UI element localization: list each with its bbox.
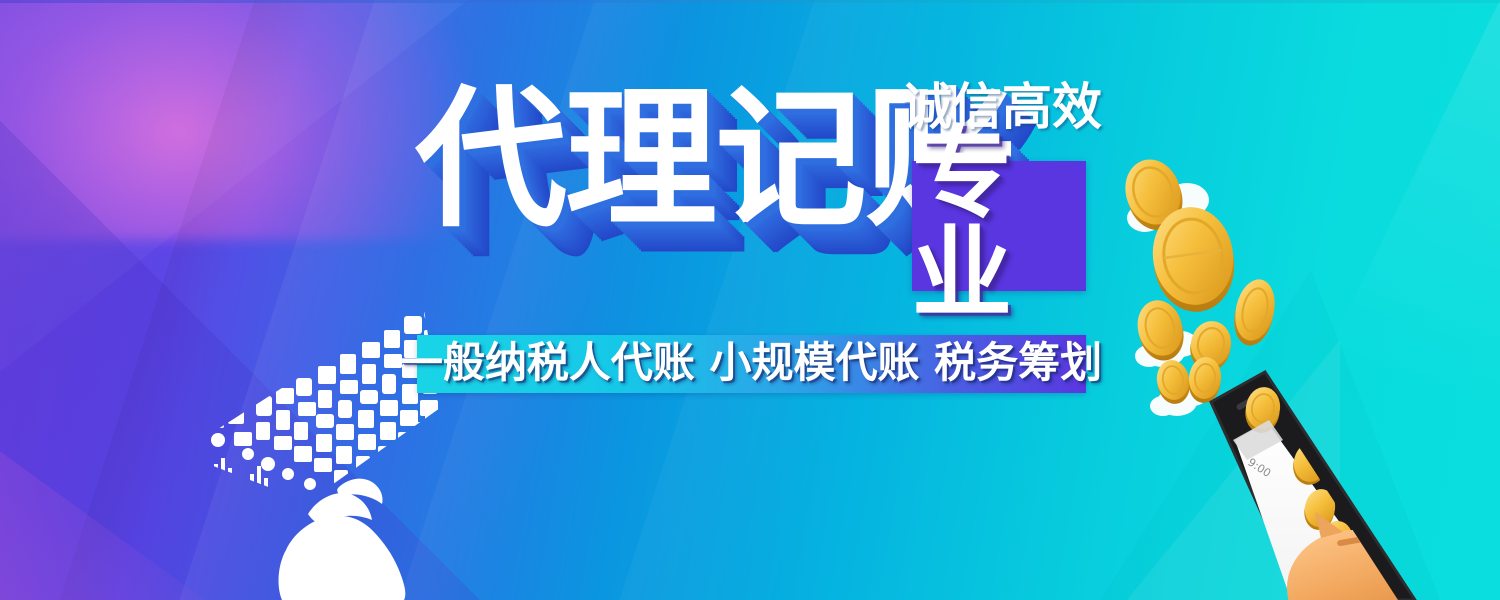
services-bar-label: 一般纳税人代账 小规模代账 税务筹划 bbox=[401, 342, 1102, 384]
badge-professional: 专业 bbox=[912, 161, 1086, 291]
promotional-banner: 代理记账 诚信高效 专业 一般纳税人代账 小规模代账 税务筹划 bbox=[0, 0, 1500, 600]
smartphone-device: 9:00 bbox=[1211, 372, 1431, 600]
services-bar: 一般纳税人代账 小规模代账 税务筹划 bbox=[417, 335, 1086, 393]
badge-label: 专业 bbox=[912, 124, 1086, 324]
background-top-edge bbox=[0, 0, 1500, 3]
smartphone-piggybank-illustration: 9:00 bbox=[1115, 140, 1435, 600]
